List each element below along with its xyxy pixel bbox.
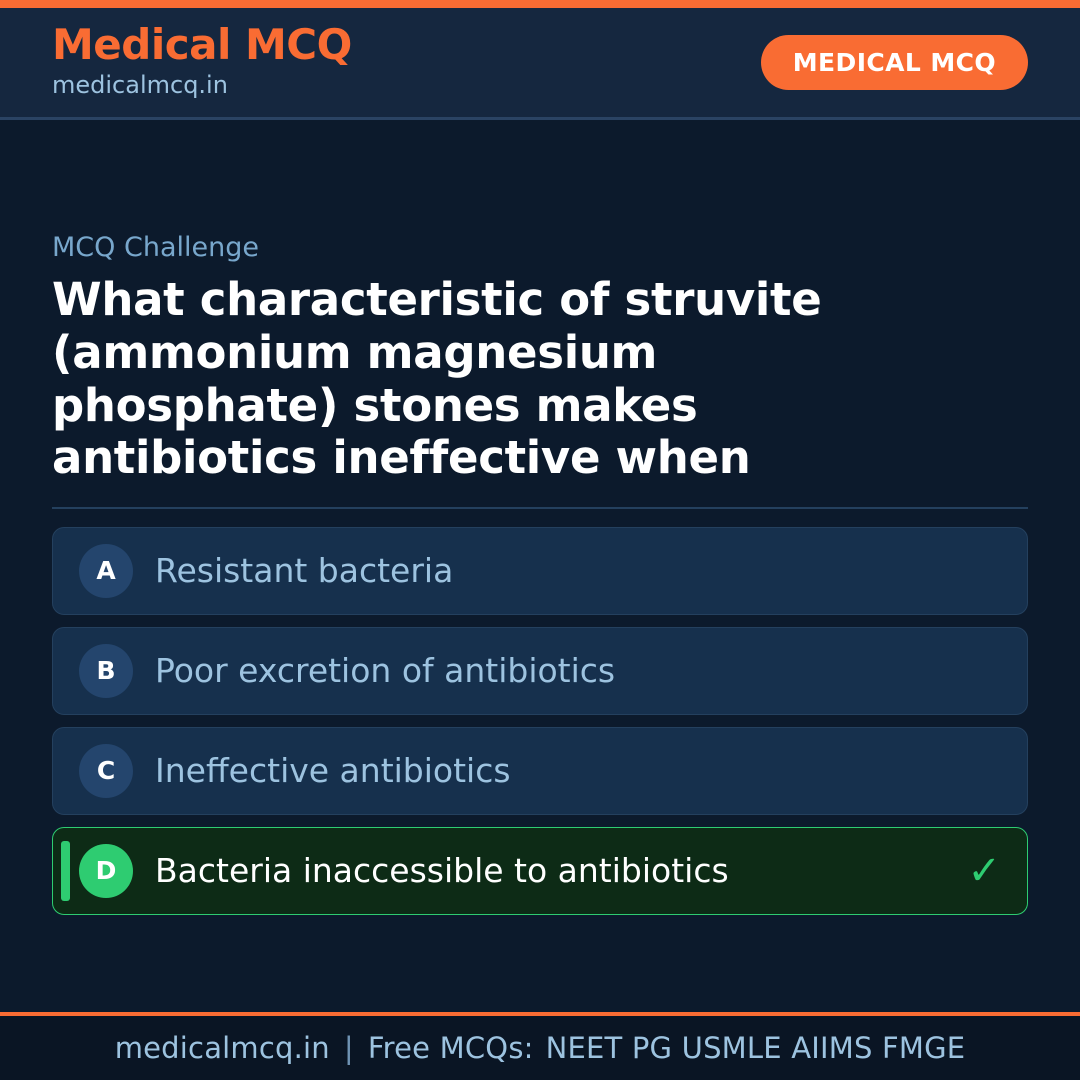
brand-block: Medical MCQ medicalmcq.in <box>52 23 352 101</box>
options-list: A Resistant bacteria B Poor excretion of… <box>52 527 1028 915</box>
option-d[interactable]: D Bacteria inaccessible to antibiotics ✓ <box>52 827 1028 915</box>
top-accent-bar <box>0 0 1080 8</box>
option-label: Ineffective antibiotics <box>155 751 989 791</box>
option-label: Poor excretion of antibiotics <box>155 651 989 691</box>
check-icon: ✓ <box>967 851 1001 891</box>
option-b[interactable]: B Poor excretion of antibiotics <box>52 627 1028 715</box>
header: Medical MCQ medicalmcq.in MEDICAL MCQ <box>0 8 1080 120</box>
option-letter-badge: A <box>79 544 133 598</box>
footer-site: medicalmcq.in <box>115 1031 330 1065</box>
question-text: What characteristic of struvite (ammoniu… <box>52 274 952 485</box>
footer-exams: NEET PG USMLE AIIMS FMGE <box>546 1031 966 1065</box>
mcq-card: Medical MCQ medicalmcq.in MEDICAL MCQ MC… <box>0 0 1080 1080</box>
footer: medicalmcq.in|Free MCQs:NEET PG USMLE AI… <box>0 1012 1080 1080</box>
footer-separator: | <box>344 1031 354 1065</box>
header-badge: MEDICAL MCQ <box>761 35 1028 90</box>
brand-title: Medical MCQ <box>52 23 352 67</box>
brand-domain: medicalmcq.in <box>52 69 352 101</box>
option-letter-badge: D <box>79 844 133 898</box>
option-label: Resistant bacteria <box>155 551 989 591</box>
option-c[interactable]: C Ineffective antibiotics <box>52 727 1028 815</box>
footer-exams-label: Free MCQs: <box>368 1031 534 1065</box>
question-area: MCQ Challenge What characteristic of str… <box>0 120 1080 1012</box>
option-letter-badge: B <box>79 644 133 698</box>
option-a[interactable]: A Resistant bacteria <box>52 527 1028 615</box>
option-letter-badge: C <box>79 744 133 798</box>
eyebrow-label: MCQ Challenge <box>52 232 1028 264</box>
question-divider <box>52 507 1028 509</box>
footer-text: medicalmcq.in|Free MCQs:NEET PG USMLE AI… <box>115 1031 966 1065</box>
correct-accent-bar <box>61 841 70 901</box>
option-label: Bacteria inaccessible to antibiotics <box>155 851 955 891</box>
